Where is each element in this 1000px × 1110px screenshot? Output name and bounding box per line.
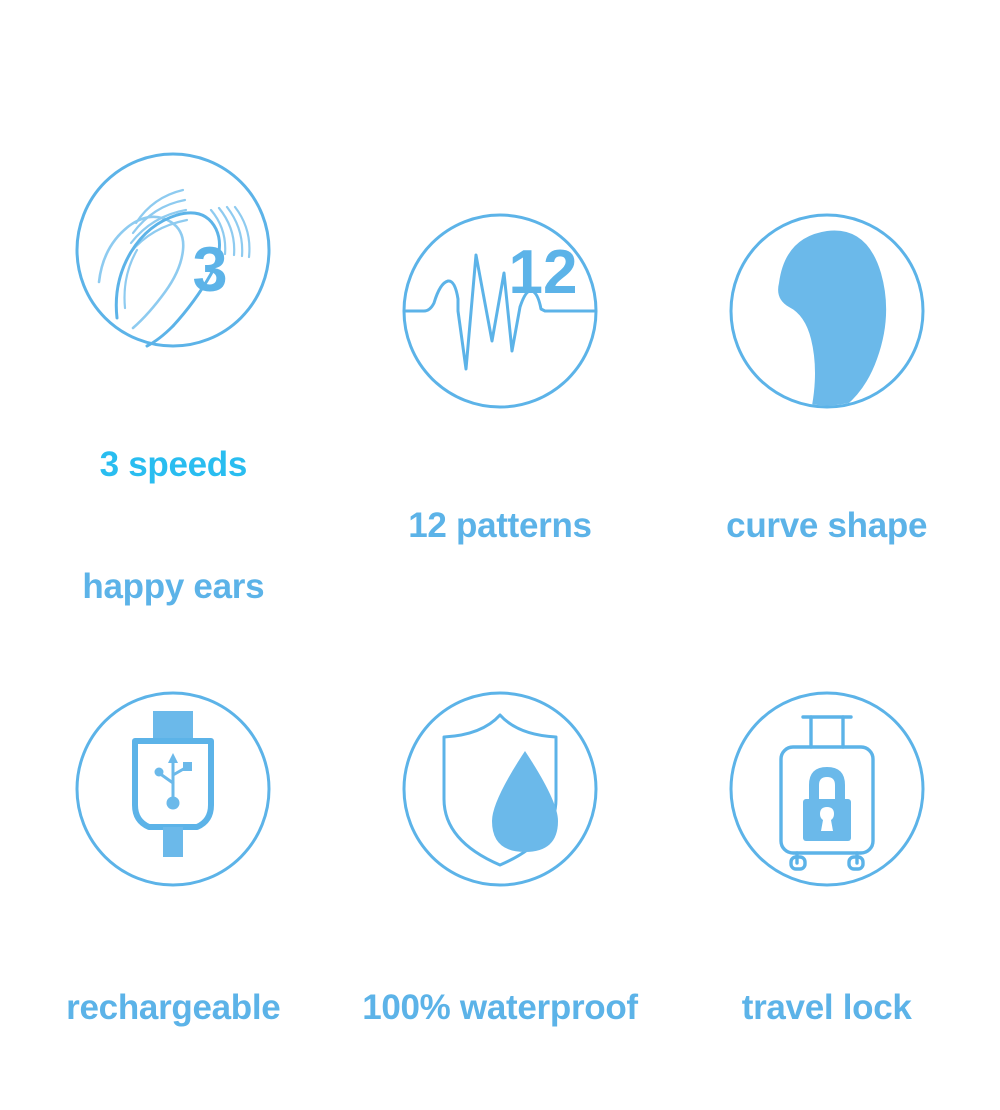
caption-line-2: happy ears xyxy=(82,567,264,608)
caption-line-1: curve shape xyxy=(726,506,927,547)
caption-line-1: travel lock xyxy=(742,988,912,1029)
waveform-icon: 12 xyxy=(400,211,600,411)
vibrating-finger-icon: 3 xyxy=(73,150,273,350)
feature-caption-waterproof: 100% waterproof xyxy=(362,907,638,1110)
feature-item-twelve-patterns: 12 12 patterns xyxy=(337,211,664,628)
caption-line-1: 12 patterns xyxy=(408,506,591,547)
feature-icon-grid: 3 3 speeds happy ears 12 12 patterns xyxy=(0,0,1000,1000)
feature-caption-travel-lock: travel lock xyxy=(742,907,912,1110)
feature-caption-rechargeable: rechargeable xyxy=(66,907,280,1110)
speed-count-badge: 3 xyxy=(193,235,228,305)
caption-line-1: 3 speeds xyxy=(82,445,264,486)
feature-item-curve-shape: curve shape xyxy=(663,211,990,628)
feature-item-travel-lock: travel lock xyxy=(663,689,990,1110)
feature-caption-three-speeds: 3 speeds happy ears xyxy=(82,364,264,689)
feature-item-three-speeds: 3 3 speeds happy ears xyxy=(10,150,337,689)
pattern-count-badge: 12 xyxy=(509,238,578,307)
feature-item-rechargeable: rechargeable xyxy=(10,689,337,1110)
usb-plug-icon xyxy=(73,689,273,889)
curved-blob-icon xyxy=(727,211,927,411)
caption-line-1: rechargeable xyxy=(66,988,280,1029)
suitcase-lock-icon xyxy=(727,689,927,889)
feature-item-waterproof: 100% waterproof xyxy=(337,689,664,1110)
feature-caption-twelve-patterns: 12 patterns xyxy=(408,425,591,628)
feature-caption-curve-shape: curve shape xyxy=(726,425,927,628)
caption-line-1: 100% waterproof xyxy=(362,988,638,1029)
shield-droplet-icon xyxy=(400,689,600,889)
